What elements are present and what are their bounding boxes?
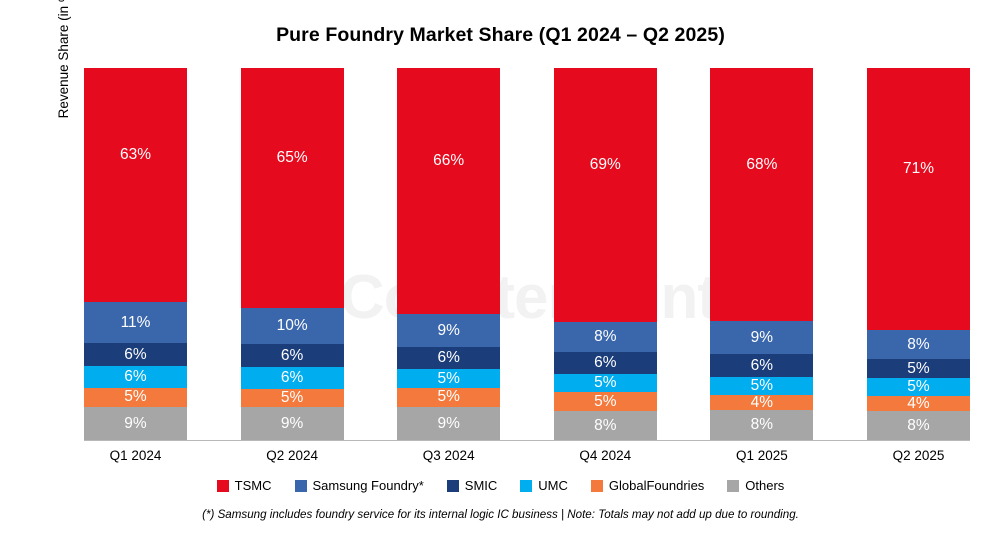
bar-segment[interactable]: 11%: [84, 302, 187, 343]
bar-segment[interactable]: 9%: [710, 321, 813, 354]
bar-segment-value-label: 5%: [751, 378, 773, 394]
bar-segment-value-label: 6%: [751, 358, 773, 374]
legend-swatch-icon: [295, 480, 307, 492]
bar-segment[interactable]: 6%: [241, 367, 344, 389]
bar-column[interactable]: 66%9%6%5%5%9%: [397, 68, 500, 440]
x-axis-tick-label: Q2 2024: [241, 448, 344, 463]
page-title: Pure Foundry Market Share (Q1 2024 – Q2 …: [0, 24, 1001, 47]
bar-column[interactable]: 71%8%5%5%4%8%: [867, 68, 970, 440]
bar-segment[interactable]: 6%: [397, 347, 500, 369]
bar-segment[interactable]: 9%: [397, 407, 500, 440]
bar-segment[interactable]: 8%: [867, 330, 970, 359]
legend-item-label: TSMC: [235, 478, 272, 493]
bar-segment-value-label: 6%: [124, 347, 146, 363]
legend: TSMCSamsung Foundry*SMICUMCGlobalFoundri…: [0, 478, 1001, 493]
x-axis-tick-labels: Q1 2024Q2 2024Q3 2024Q4 2024Q1 2025Q2 20…: [84, 448, 970, 463]
bar-segment[interactable]: 10%: [241, 308, 344, 345]
bar-segment[interactable]: 6%: [84, 366, 187, 388]
bar-segment-value-label: 4%: [751, 395, 773, 410]
legend-item[interactable]: TSMC: [217, 478, 272, 493]
bar-column[interactable]: 69%8%6%5%5%8%: [554, 68, 657, 440]
footnote: (*) Samsung includes foundry service for…: [0, 508, 1001, 521]
bar-segment-value-label: 9%: [124, 416, 146, 432]
bar-segment-value-label: 4%: [907, 396, 929, 411]
legend-item[interactable]: Others: [727, 478, 784, 493]
bar-segment-value-label: 5%: [124, 389, 146, 405]
legend-item[interactable]: Samsung Foundry*: [295, 478, 424, 493]
legend-item-label: UMC: [538, 478, 568, 493]
legend-item-label: Others: [745, 478, 784, 493]
bar-segment[interactable]: 65%: [241, 68, 344, 308]
bar-column[interactable]: 65%10%6%6%5%9%: [241, 68, 344, 440]
bar-segment-value-label: 9%: [751, 330, 773, 346]
legend-item[interactable]: UMC: [520, 478, 568, 493]
bar-segment-value-label: 66%: [433, 153, 464, 169]
bar-segment-value-label: 11%: [121, 315, 151, 331]
bar-segment[interactable]: 66%: [397, 68, 500, 314]
bar-group: 63%11%6%6%5%9%65%10%6%6%5%9%66%9%6%5%5%9…: [84, 68, 970, 440]
bar-segment[interactable]: 5%: [397, 369, 500, 388]
bar-segment[interactable]: 6%: [554, 352, 657, 374]
x-axis-tick-label: Q1 2024: [84, 448, 187, 463]
bar-segment-value-label: 5%: [437, 389, 459, 405]
bar-segment-value-label: 5%: [907, 361, 929, 377]
x-axis-tick-label: Q2 2025: [867, 448, 970, 463]
x-axis-line: [84, 440, 970, 441]
bar-segment-value-label: 8%: [751, 417, 773, 433]
bar-segment[interactable]: 5%: [84, 388, 187, 407]
legend-item-label: Samsung Foundry*: [313, 478, 424, 493]
bar-segment-value-label: 68%: [746, 157, 777, 173]
bar-segment-value-label: 63%: [120, 147, 151, 163]
legend-swatch-icon: [591, 480, 603, 492]
x-axis-tick-label: Q4 2024: [554, 448, 657, 463]
bar-segment[interactable]: 5%: [397, 388, 500, 407]
bar-column[interactable]: 63%11%6%6%5%9%: [84, 68, 187, 440]
bar-segment-value-label: 10%: [277, 318, 308, 334]
chart-canvas: Pure Foundry Market Share (Q1 2024 – Q2 …: [0, 0, 1001, 536]
legend-item-label: GlobalFoundries: [609, 478, 704, 493]
bar-segment-value-label: 5%: [594, 375, 616, 391]
legend-swatch-icon: [217, 480, 229, 492]
bar-segment[interactable]: 9%: [84, 407, 187, 440]
bar-segment-value-label: 8%: [907, 418, 929, 434]
legend-swatch-icon: [727, 480, 739, 492]
bar-segment[interactable]: 6%: [84, 343, 187, 365]
legend-item[interactable]: SMIC: [447, 478, 498, 493]
legend-swatch-icon: [447, 480, 459, 492]
bar-segment[interactable]: 8%: [554, 411, 657, 440]
legend-item[interactable]: GlobalFoundries: [591, 478, 704, 493]
bar-segment-value-label: 6%: [437, 350, 459, 366]
x-axis-tick-label: Q1 2025: [710, 448, 813, 463]
bar-segment[interactable]: 9%: [397, 314, 500, 347]
bar-segment-value-label: 9%: [437, 323, 459, 339]
bar-segment[interactable]: 5%: [554, 392, 657, 410]
bar-column[interactable]: 68%9%6%5%4%8%: [710, 68, 813, 440]
bar-segment[interactable]: 68%: [710, 68, 813, 321]
bar-segment[interactable]: 71%: [867, 68, 970, 330]
bar-segment-value-label: 6%: [594, 355, 616, 371]
y-axis-title: Revenue Share (in %): [56, 0, 78, 167]
x-axis-tick-label: Q3 2024: [397, 448, 500, 463]
bar-segment-value-label: 6%: [281, 370, 303, 386]
bar-segment-value-label: 65%: [277, 150, 308, 166]
bar-segment-value-label: 8%: [907, 337, 929, 353]
bar-segment-value-label: 5%: [437, 371, 459, 387]
bar-segment[interactable]: 69%: [554, 68, 657, 322]
bar-segment[interactable]: 4%: [867, 396, 970, 411]
bar-segment[interactable]: 5%: [710, 377, 813, 396]
bar-segment[interactable]: 5%: [867, 359, 970, 377]
bar-segment[interactable]: 6%: [710, 354, 813, 376]
bar-segment-value-label: 9%: [281, 416, 303, 432]
bar-segment[interactable]: 9%: [241, 407, 344, 440]
bar-segment[interactable]: 8%: [554, 322, 657, 351]
bar-segment-value-label: 5%: [594, 394, 616, 410]
plot-area: 63%11%6%6%5%9%65%10%6%6%5%9%66%9%6%5%5%9…: [84, 68, 970, 440]
bar-segment[interactable]: 5%: [554, 374, 657, 392]
bar-segment[interactable]: 6%: [241, 344, 344, 366]
bar-segment[interactable]: 5%: [867, 378, 970, 396]
bar-segment-value-label: 5%: [907, 379, 929, 395]
bar-segment-value-label: 71%: [903, 161, 934, 177]
bar-segment-value-label: 69%: [590, 157, 621, 173]
bar-segment[interactable]: 63%: [84, 68, 187, 302]
legend-swatch-icon: [520, 480, 532, 492]
bar-segment-value-label: 8%: [594, 329, 616, 345]
bar-segment-value-label: 9%: [437, 416, 459, 432]
bar-segment[interactable]: 8%: [867, 411, 970, 440]
legend-item-label: SMIC: [465, 478, 498, 493]
bar-segment-value-label: 6%: [281, 348, 303, 364]
bar-segment[interactable]: 5%: [241, 389, 344, 407]
bar-segment[interactable]: 8%: [710, 410, 813, 440]
bar-segment-value-label: 8%: [594, 418, 616, 434]
bar-segment-value-label: 6%: [124, 369, 146, 385]
bar-segment[interactable]: 4%: [710, 395, 813, 410]
bar-segment-value-label: 5%: [281, 390, 303, 406]
